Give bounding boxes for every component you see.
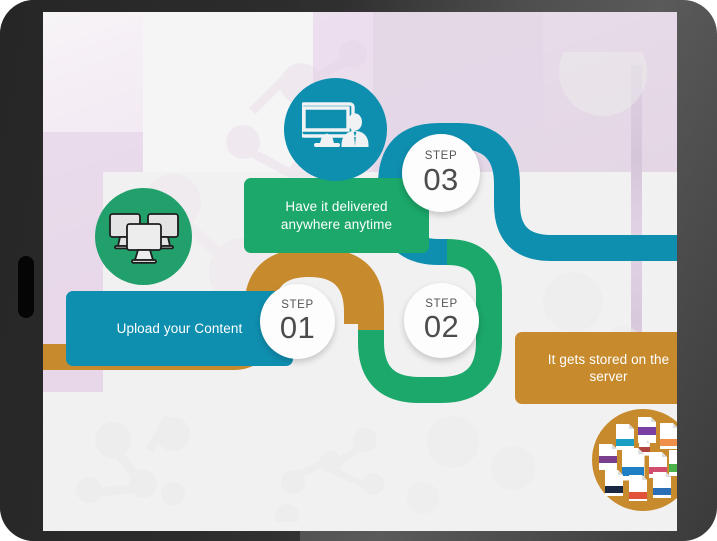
file-doc-vimeo — [638, 417, 656, 443]
screenshot-stage: Upload your Content It gets stored on th… — [0, 0, 717, 541]
step-number-03: 03 — [423, 164, 458, 195]
step-number-02: 02 — [424, 311, 459, 342]
step-circle-02[interactable]: STEP 02 — [404, 283, 479, 358]
file-doc-avi — [653, 472, 671, 498]
step-label-box-01[interactable]: Upload your Content — [66, 291, 293, 366]
tablet-side-button[interactable] — [18, 256, 34, 318]
step-label-text-03: Have it delivered anywhere anytime — [258, 198, 415, 233]
step-label-text-01: Upload your Content — [117, 320, 243, 337]
file-doc-flickr — [660, 423, 677, 449]
step-label-text-02: It gets stored on the server — [531, 351, 677, 386]
tablet-device: Upload your Content It gets stored on th… — [0, 0, 717, 541]
three-monitors-icon — [95, 188, 192, 285]
file-doc-msn — [599, 444, 617, 470]
tablet-screen: Upload your Content It gets stored on th… — [43, 12, 677, 531]
monitor-with-person-icon — [284, 78, 387, 181]
step-label-box-03[interactable]: Have it delivered anywhere anytime — [244, 178, 429, 253]
file-doc-mp3 — [629, 475, 647, 501]
step-label-box-02[interactable]: It gets stored on the server — [515, 332, 677, 404]
step-circle-03[interactable]: STEP 03 — [402, 134, 480, 212]
step-number-01: 01 — [280, 312, 315, 343]
file-doc-hulu — [616, 424, 634, 450]
file-cluster-glyph — [596, 414, 677, 506]
presenter-glyph — [302, 102, 370, 158]
file-formats-icon — [592, 409, 677, 511]
step-circle-01[interactable]: STEP 01 — [260, 284, 335, 359]
file-doc-mpeg — [669, 450, 677, 476]
file-doc-jpg — [605, 470, 623, 496]
monitors-glyph — [108, 208, 180, 266]
